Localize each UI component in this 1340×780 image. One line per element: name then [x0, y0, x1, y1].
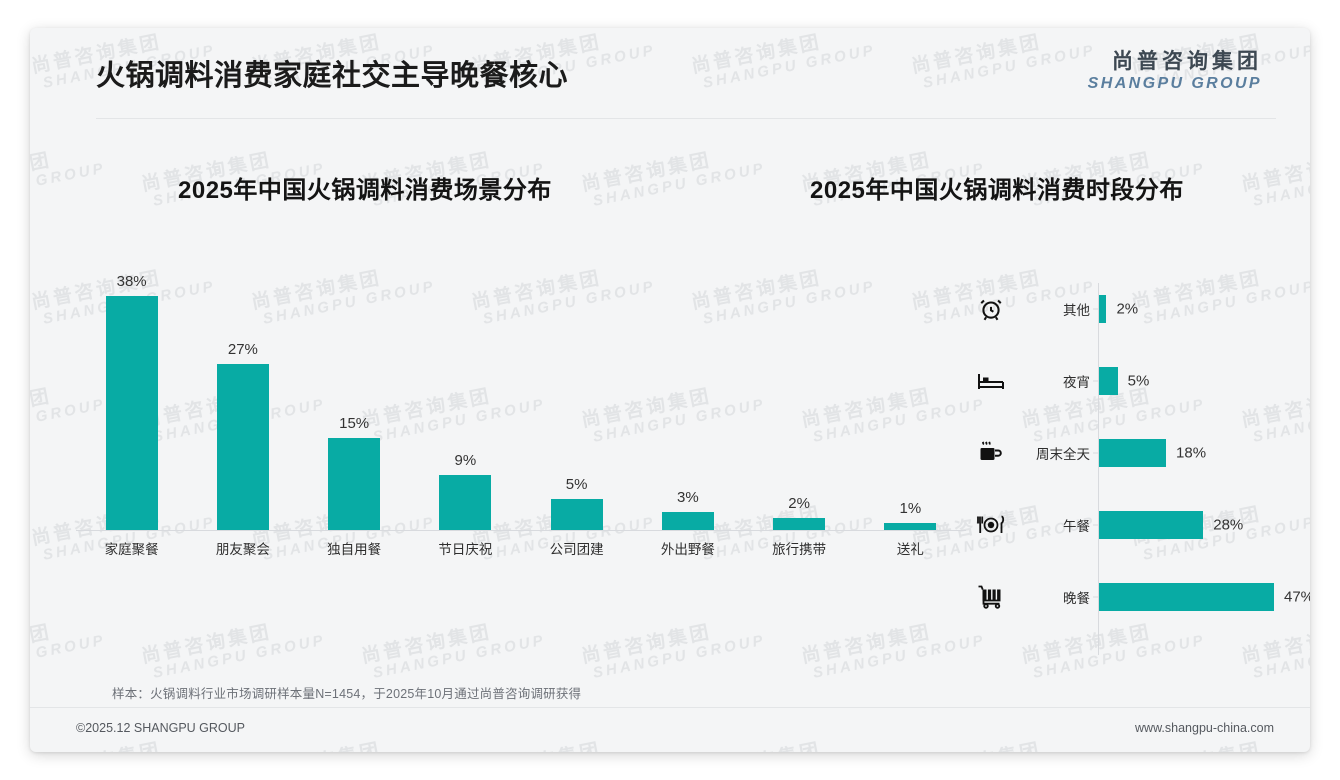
category-label: 旅行携带 — [744, 538, 855, 558]
vertical-bar-column[interactable]: 1% — [855, 258, 966, 530]
bar-value-label: 27% — [228, 341, 258, 358]
category-label: 晚餐 — [1016, 587, 1090, 607]
vertical-bar-column[interactable]: 5% — [521, 258, 632, 530]
sample-footnote: 样本：火锅调料行业市场调研样本量N=1454，于2025年10月通过尚普咨询调研… — [112, 683, 581, 702]
right-chart-title: 2025年中国火锅调料消费时段分布 — [810, 170, 1184, 205]
bar-rect[interactable] — [1099, 295, 1106, 323]
vertical-bar-column[interactable]: 38% — [76, 258, 187, 530]
category-label: 其他 — [1016, 299, 1090, 319]
category-label: 周末全天 — [1016, 443, 1090, 463]
bar-rect[interactable] — [1099, 583, 1274, 611]
charts-container: 2025年中国火锅调料消费场景分布 2025年中国火锅调料消费时段分布 38%2… — [30, 28, 1310, 752]
header-divider — [96, 118, 1276, 119]
scene-distribution-bar-chart: 38%27%15%9%5%3%2%1% 家庭聚餐朋友聚会独自用餐节日庆祝公司团建… — [76, 258, 966, 558]
page-title: 火锅调料消费家庭社交主导晚餐核心 — [96, 52, 568, 94]
slide-footer: ©2025.12 SHANGPU GROUP www.shangpu-china… — [30, 707, 1310, 752]
category-label: 家庭聚餐 — [76, 538, 187, 558]
category-label: 夜宵 — [1016, 371, 1090, 391]
vertical-bar-column[interactable]: 9% — [410, 258, 521, 530]
category-label: 独自用餐 — [299, 538, 410, 558]
vertical-chart-baseline — [76, 530, 966, 531]
bar-rect[interactable] — [773, 518, 825, 530]
copyright-text: ©2025.12 SHANGPU GROUP — [76, 721, 245, 735]
vertical-bars-plot: 38%27%15%9%5%3%2%1% — [76, 258, 966, 530]
horizontal-bar-row[interactable]: 午餐28% — [960, 503, 1290, 547]
bar-rect[interactable] — [328, 438, 380, 530]
bar-value-label: 38% — [117, 273, 147, 290]
horizontal-bar-row[interactable]: 夜宵5% — [960, 359, 1290, 403]
bar-value-label: 9% — [455, 452, 477, 469]
vertical-bar-column[interactable]: 27% — [187, 258, 298, 530]
brand-logo: 尚普咨询集团 SHANGPU GROUP — [1088, 50, 1262, 93]
category-label: 送礼 — [855, 538, 966, 558]
bar-value-label: 5% — [566, 476, 588, 493]
category-label: 外出野餐 — [632, 538, 743, 558]
vertical-bar-column[interactable]: 3% — [632, 258, 743, 530]
bar-value-label: 2% — [1116, 301, 1138, 318]
bar-value-label: 47% — [1284, 589, 1310, 606]
horizontal-bar-row[interactable]: 其他2% — [960, 287, 1290, 331]
vertical-bar-column[interactable]: 15% — [299, 258, 410, 530]
slide-header: 火锅调料消费家庭社交主导晚餐核心 尚普咨询集团 SHANGPU GROUP — [30, 28, 1310, 118]
category-label: 节日庆祝 — [410, 538, 521, 558]
category-label: 公司团建 — [521, 538, 632, 558]
bar-value-label: 5% — [1128, 373, 1150, 390]
logo-english-text: SHANGPU GROUP — [1088, 74, 1262, 93]
bar-rect[interactable] — [662, 512, 714, 530]
bar-rect[interactable] — [217, 364, 269, 530]
bar-rect[interactable] — [439, 475, 491, 530]
bar-rect[interactable] — [884, 523, 936, 530]
bar-rect[interactable] — [106, 296, 158, 530]
bed-icon — [974, 364, 1008, 398]
plate-cutlery-icon — [974, 508, 1008, 542]
horizontal-bar-row[interactable]: 晚餐47% — [960, 575, 1290, 619]
website-link[interactable]: www.shangpu-china.com — [1135, 721, 1274, 735]
alarm-clock-icon — [974, 292, 1008, 326]
left-chart-title: 2025年中国火锅调料消费场景分布 — [178, 170, 552, 205]
bar-rect[interactable] — [551, 499, 603, 530]
bar-value-label: 2% — [788, 495, 810, 512]
category-label: 午餐 — [1016, 515, 1090, 535]
horizontal-bar-row[interactable]: 周末全天18% — [960, 431, 1290, 475]
bar-rect[interactable] — [1099, 367, 1118, 395]
time-distribution-bar-chart: 其他2%夜宵5%周末全天18%午餐28%晚餐47% — [960, 283, 1290, 655]
coffee-cup-icon — [974, 436, 1008, 470]
bar-value-label: 3% — [677, 489, 699, 506]
bar-value-label: 28% — [1213, 517, 1243, 534]
bar-value-label: 15% — [339, 415, 369, 432]
bar-rect[interactable] — [1099, 511, 1203, 539]
bar-rect[interactable] — [1099, 439, 1166, 467]
vertical-chart-category-labels: 家庭聚餐朋友聚会独自用餐节日庆祝公司团建外出野餐旅行携带送礼 — [76, 538, 966, 558]
slide-card: 尚普咨询集团SHANGPU GROUP尚普咨询集团SHANGPU GROUP尚普… — [30, 28, 1310, 752]
bar-value-label: 18% — [1176, 445, 1206, 462]
shopping-cart-icon — [974, 580, 1008, 614]
bar-value-label: 1% — [900, 500, 922, 517]
category-label: 朋友聚会 — [187, 538, 298, 558]
logo-chinese-text: 尚普咨询集团 — [1088, 50, 1262, 74]
vertical-bar-column[interactable]: 2% — [744, 258, 855, 530]
